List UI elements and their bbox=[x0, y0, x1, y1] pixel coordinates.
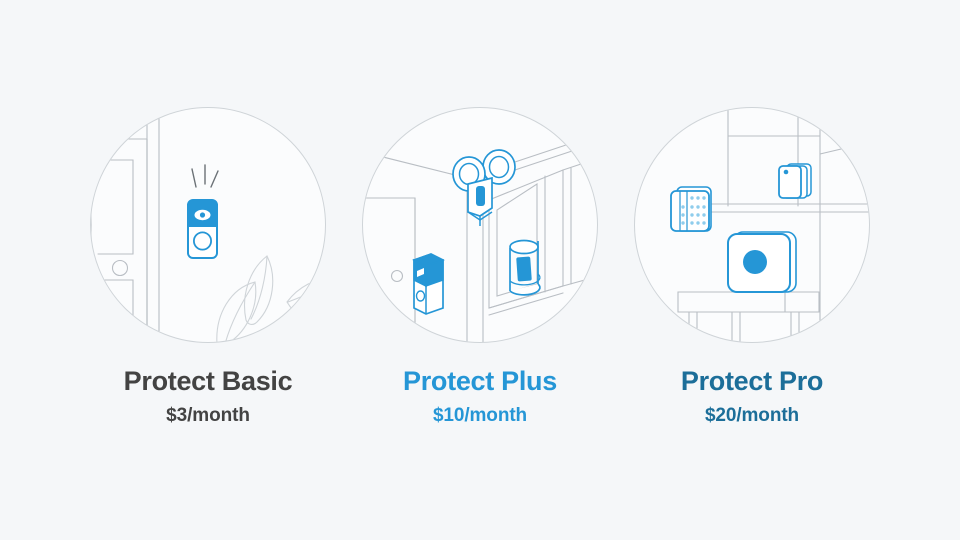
plans-row: Protect Basic $3/month bbox=[0, 0, 960, 540]
plan-price-basic: $3/month bbox=[166, 405, 250, 427]
indoor-cylinder-camera-icon bbox=[510, 241, 540, 295]
plan-card-plus[interactable]: Protect Plus $10/month bbox=[344, 0, 616, 427]
plan-card-basic[interactable]: Protect Basic $3/month bbox=[72, 0, 344, 427]
plan-card-pro[interactable]: Protect Pro $20/month bbox=[616, 0, 888, 427]
video-doorbell-icon bbox=[188, 200, 217, 258]
chime-lines-icon bbox=[192, 165, 218, 187]
plant-leaves-icon bbox=[217, 256, 326, 343]
plan-name-basic: Protect Basic bbox=[124, 367, 293, 395]
contact-sensor-icon bbox=[779, 164, 811, 198]
illustration-house-exterior-floodlight-scene bbox=[362, 107, 598, 343]
plan-name-pro: Protect Pro bbox=[681, 367, 823, 395]
floodlight-camera-icon bbox=[453, 150, 515, 226]
plan-name-plus: Protect Plus bbox=[403, 367, 557, 395]
video-doorbell-icon bbox=[414, 254, 443, 314]
plan-price-plus: $10/month bbox=[433, 405, 527, 427]
keypad-icon bbox=[671, 187, 711, 231]
illustration-indoor-security-system-scene bbox=[634, 107, 870, 343]
plan-price-pro: $20/month bbox=[705, 405, 799, 427]
illustration-front-door-video-doorbell-scene bbox=[90, 107, 326, 343]
base-station-icon bbox=[728, 232, 796, 292]
scene-architecture bbox=[91, 108, 159, 343]
